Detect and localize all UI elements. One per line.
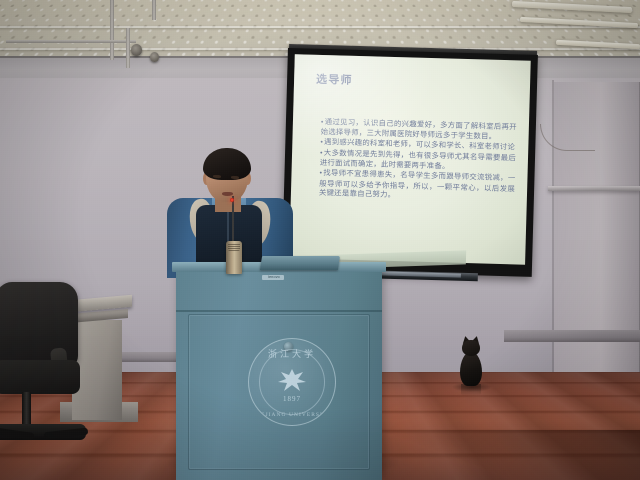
ceiling-pipe-bracket bbox=[126, 28, 130, 68]
emblem-english-name: ZHEJIANG UNIVERSITY bbox=[249, 412, 335, 418]
projection-screen: 选导师 通过见习，认识自己的兴趣爱好，多方面了解科室后再开始选择导师，三大附属医… bbox=[282, 48, 538, 277]
laptop[interactable] bbox=[260, 256, 340, 270]
laptop-brand-label: lenovo bbox=[263, 275, 285, 280]
podium-seam bbox=[176, 310, 382, 312]
microphone-led-indicator bbox=[230, 198, 234, 202]
ceiling-seam bbox=[0, 26, 640, 28]
slide-title: 选导师 bbox=[316, 71, 353, 88]
wall-rail bbox=[548, 186, 640, 191]
slide-body: 通过见习，认识自己的兴趣爱好，多方面了解科室后再开始选择导师，三大附属医院好导师… bbox=[319, 117, 517, 203]
sprinkler-head-icon bbox=[131, 44, 142, 56]
lecture-hall-photo: 选导师 通过见习，认识自己的兴趣爱好，多方面了解科室后再开始选择导师，三大附属医… bbox=[0, 0, 640, 480]
zhejiang-university-emblem: 浙江大学 1897 ZHEJIANG UNIVERSITY bbox=[248, 338, 336, 426]
presenter-eye bbox=[231, 176, 239, 179]
emblem-founded-year: 1897 bbox=[249, 395, 335, 403]
cat-floor-reflection bbox=[461, 384, 481, 398]
presenter-hair bbox=[203, 148, 251, 180]
emblem-eagle-icon bbox=[273, 365, 311, 395]
baseboard bbox=[122, 352, 182, 362]
presenter-eye bbox=[213, 175, 221, 178]
office-chair-seat[interactable] bbox=[0, 360, 80, 394]
sprinkler-head-icon bbox=[150, 52, 159, 62]
ceiling-pipe-horizontal bbox=[6, 40, 136, 43]
slide-surface: 选导师 通过见习，认识自己的兴趣爱好，多方面了解科室后再开始选择导师，三大附属医… bbox=[289, 54, 531, 265]
microphone-stem bbox=[232, 196, 234, 244]
baseboard bbox=[504, 330, 640, 342]
cat bbox=[460, 352, 482, 386]
ceiling-hanger-rod bbox=[152, 0, 156, 20]
slide-bullet: 找导师不宜患得患失，名导学生多而跟导师交流锐减，一般导师可以多给予你指导，所以，… bbox=[319, 168, 516, 202]
microphone-grille-icon bbox=[228, 243, 240, 251]
ceiling-pipe-vertical bbox=[110, 0, 114, 60]
cat-head bbox=[462, 340, 480, 356]
